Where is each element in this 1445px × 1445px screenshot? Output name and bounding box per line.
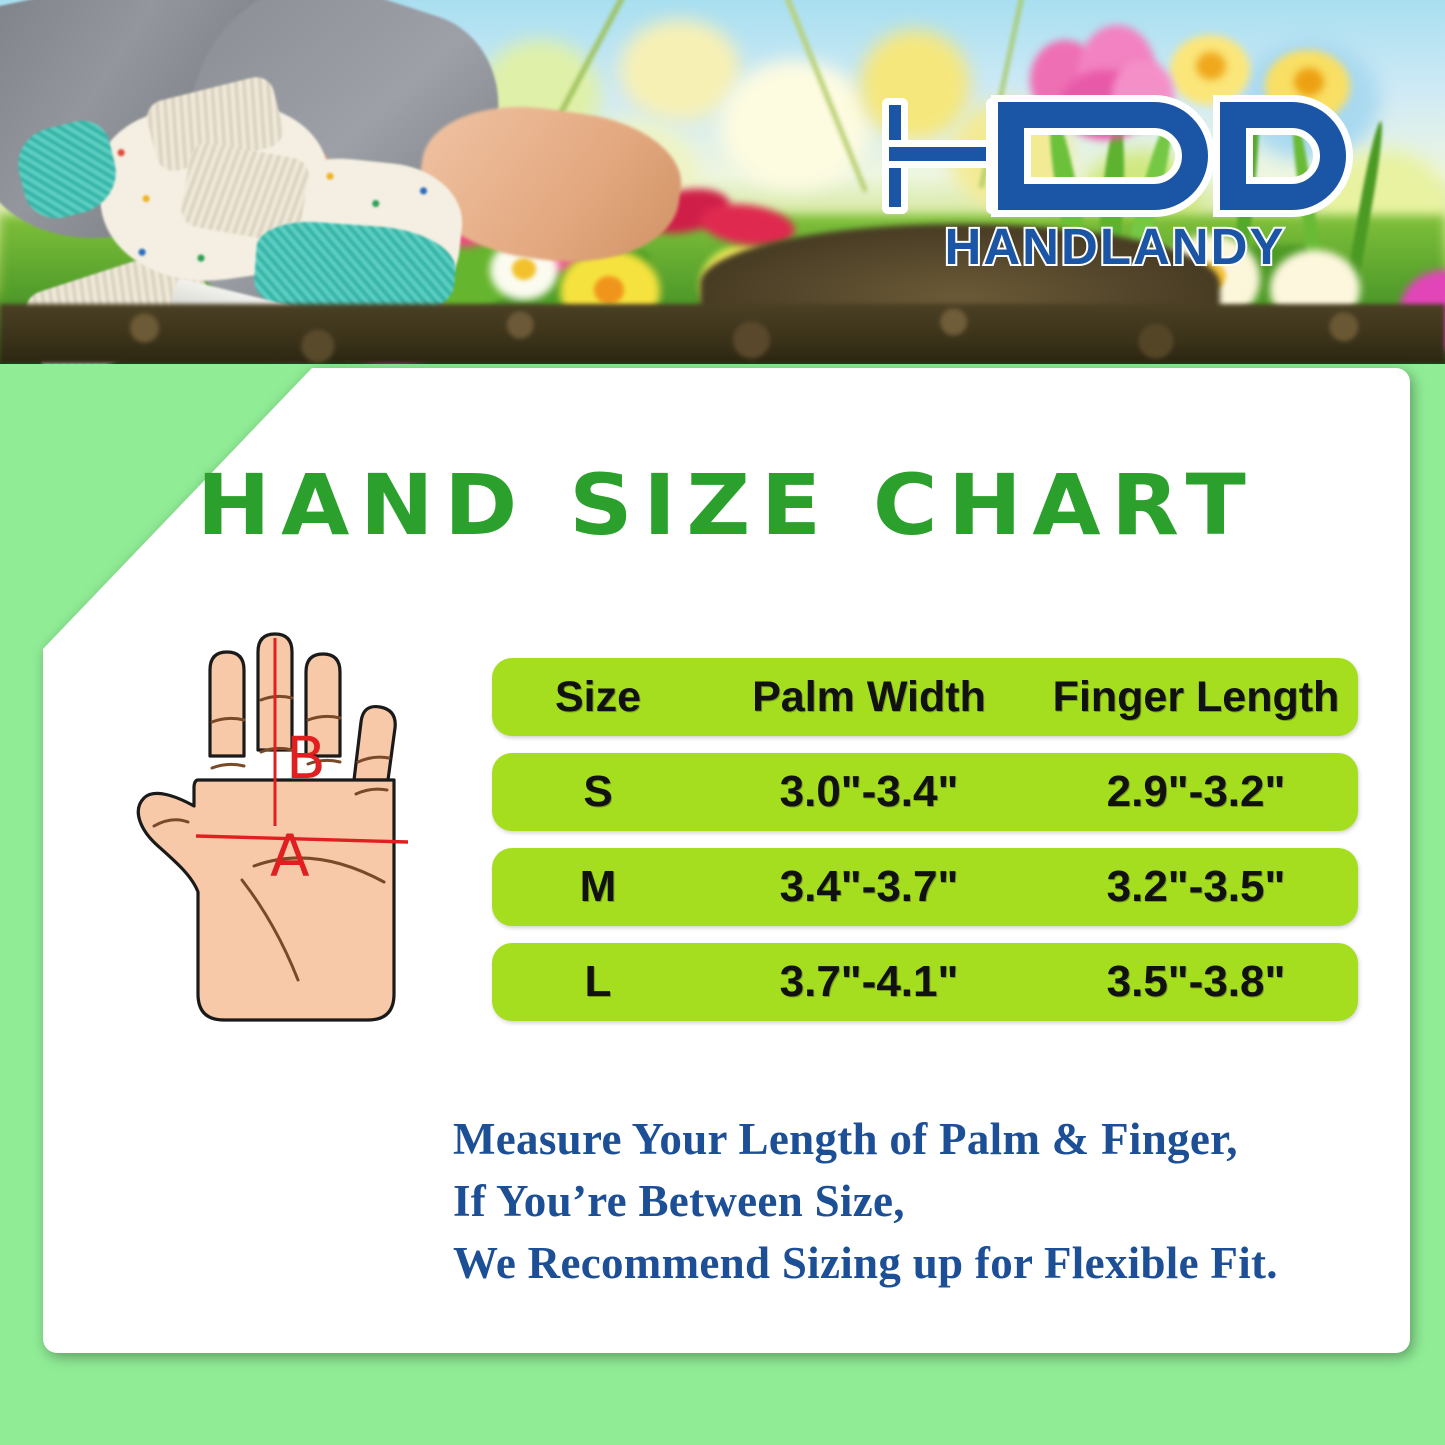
table-row: M 3.4"-3.7" 3.2"-3.5": [492, 848, 1358, 926]
cell-size: S: [492, 767, 704, 817]
cell-finger: 3.5"-3.8": [1034, 957, 1358, 1007]
cell-finger: 3.2"-3.5": [1034, 862, 1358, 912]
banner-photo: HANDLANDY: [0, 0, 1445, 364]
cell-palm: 3.0"-3.4": [704, 767, 1034, 817]
logo-wordmark: HANDLANDY: [880, 218, 1350, 276]
label-a: A: [270, 822, 310, 890]
soil-strip: [0, 304, 1445, 364]
table-row: L 3.7"-4.1" 3.5"-3.8": [492, 943, 1358, 1021]
hand-size-chart-page: HANDLANDY HAND SIZE CHART: [0, 0, 1445, 1445]
hand-svg: B A: [118, 630, 493, 1080]
cell-finger: 2.9"-3.2": [1034, 767, 1358, 817]
brand-logo: HANDLANDY: [880, 96, 1350, 276]
cell-size: M: [492, 862, 704, 912]
column-header-finger: Finger Length: [1034, 673, 1358, 722]
table-row: S 3.0"-3.4" 2.9"-3.2": [492, 753, 1358, 831]
logo-d-glyph: [998, 102, 1208, 210]
note-line-3: We Recommend Sizing up for Flexible Fit.: [453, 1232, 1383, 1294]
bokeh-bloom: [720, 60, 870, 190]
cell-palm: 3.4"-3.7": [704, 862, 1034, 912]
info-card: HAND SIZE CHART: [43, 368, 1410, 1353]
column-header-size: Size: [492, 673, 704, 722]
daffodil-center: [1196, 52, 1226, 80]
bokeh-bloom: [620, 20, 740, 120]
hand-measurement-diagram: B A: [118, 630, 493, 1080]
daisy-center: [512, 258, 536, 280]
column-header-palm: Palm Width: [704, 673, 1034, 722]
primrose-center: [594, 276, 624, 304]
note-line-2: If You’re Between Size,: [453, 1170, 1383, 1232]
page-title: HAND SIZE CHART: [9, 456, 1444, 554]
label-b: B: [286, 724, 326, 792]
table-header-row: Size Palm Width Finger Length: [492, 658, 1358, 736]
daffodil-center: [1294, 68, 1324, 96]
size-table: Size Palm Width Finger Length S 3.0"-3.4…: [492, 658, 1358, 1038]
cell-size: L: [492, 957, 704, 1007]
cell-palm: 3.7"-4.1": [704, 957, 1034, 1007]
note-line-1: Measure Your Length of Palm & Finger,: [453, 1108, 1383, 1170]
sizing-note: Measure Your Length of Palm & Finger, If…: [453, 1108, 1383, 1294]
logo-d-glyph: [1220, 102, 1346, 210]
